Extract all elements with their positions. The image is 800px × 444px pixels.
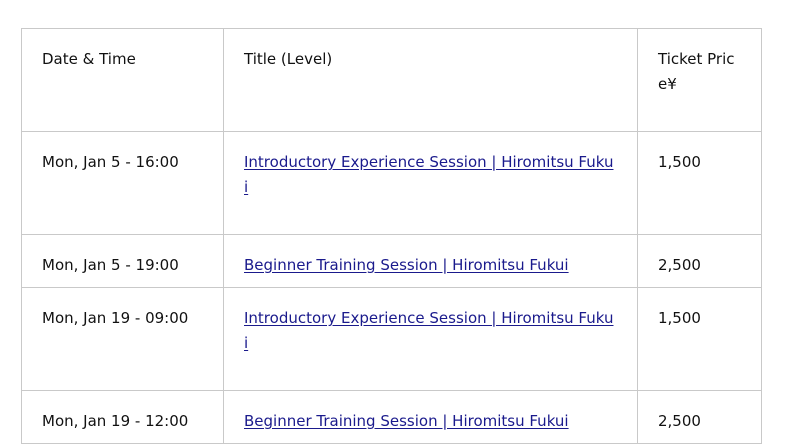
- session-link[interactable]: Beginner Training Session | Hiromitsu Fu…: [244, 412, 569, 430]
- page-root: Date & Time Title (Level) Ticket Price¥ …: [0, 0, 800, 406]
- session-link[interactable]: Introductory Experience Session | Hiromi…: [244, 153, 613, 196]
- cell-datetime: Mon, Jan 19 - 12:00: [22, 391, 224, 444]
- cell-datetime: Mon, Jan 19 - 09:00: [22, 288, 224, 391]
- cell-title: Introductory Experience Session | Hiromi…: [224, 132, 638, 235]
- cell-price: 1,500: [638, 288, 762, 391]
- session-link[interactable]: Introductory Experience Session | Hiromi…: [244, 309, 613, 352]
- column-header-title: Title (Level): [224, 29, 638, 132]
- cell-datetime: Mon, Jan 5 - 19:00: [22, 235, 224, 288]
- cell-title: Introductory Experience Session | Hiromi…: [224, 288, 638, 391]
- session-link[interactable]: Beginner Training Session | Hiromitsu Fu…: [244, 256, 569, 274]
- cell-price: 1,500: [638, 132, 762, 235]
- cell-datetime: Mon, Jan 5 - 16:00: [22, 132, 224, 235]
- table-header-row: Date & Time Title (Level) Ticket Price¥: [22, 29, 762, 132]
- cell-price: 2,500: [638, 235, 762, 288]
- table-row: Mon, Jan 19 - 12:00 Beginner Training Se…: [22, 391, 762, 444]
- table-row: Mon, Jan 5 - 19:00 Beginner Training Ses…: [22, 235, 762, 288]
- table-header: Date & Time Title (Level) Ticket Price¥: [22, 29, 762, 132]
- cell-title: Beginner Training Session | Hiromitsu Fu…: [224, 235, 638, 288]
- cell-price: 2,500: [638, 391, 762, 444]
- class-schedule-table: Date & Time Title (Level) Ticket Price¥ …: [21, 28, 762, 444]
- column-header-datetime: Date & Time: [22, 29, 224, 132]
- table-row: Mon, Jan 19 - 09:00 Introductory Experie…: [22, 288, 762, 391]
- table-body: Mon, Jan 5 - 16:00 Introductory Experien…: [22, 132, 762, 444]
- table-row: Mon, Jan 5 - 16:00 Introductory Experien…: [22, 132, 762, 235]
- column-header-price: Ticket Price¥: [638, 29, 762, 132]
- cell-title: Beginner Training Session | Hiromitsu Fu…: [224, 391, 638, 444]
